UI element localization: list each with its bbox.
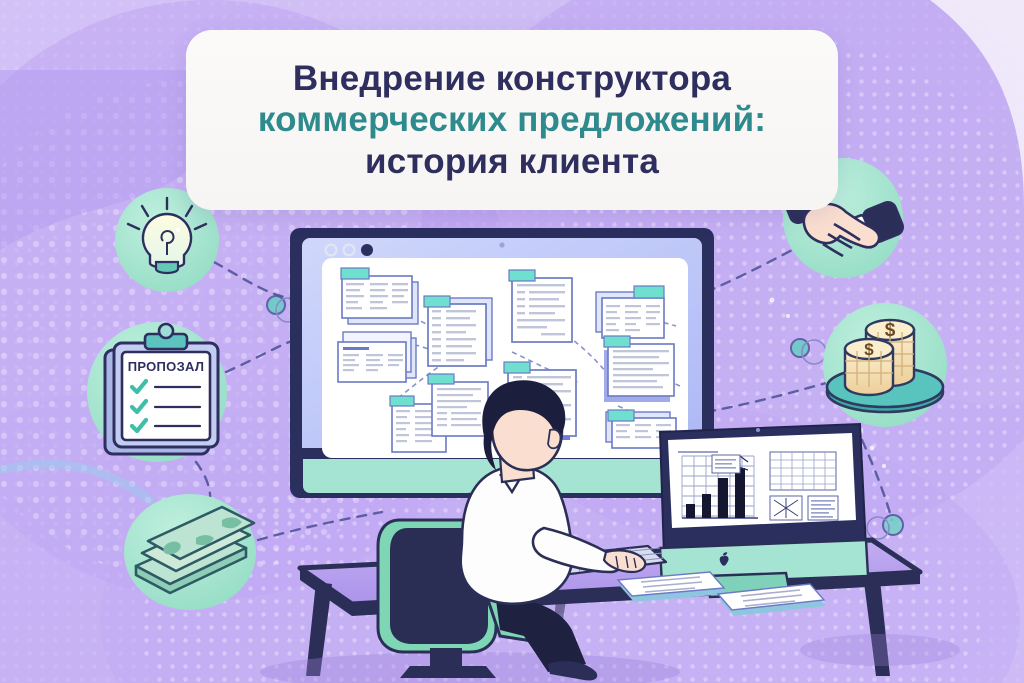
title-line-1: Внедрение конструктора — [293, 58, 731, 99]
chart-scatter-panel — [770, 496, 802, 520]
window-dot-3 — [361, 244, 373, 256]
chart-data-table — [770, 452, 836, 490]
document-card — [428, 374, 488, 436]
title-line-2: коммерческих предложений: — [258, 99, 766, 140]
chart-bar — [718, 478, 728, 518]
document-card — [338, 332, 416, 382]
title-line-3: история клиента — [365, 141, 659, 182]
illustration-canvas: ПРОПОЗАЛ — [0, 0, 1024, 683]
chart-bar — [735, 468, 745, 518]
document-card — [509, 270, 572, 342]
title-card: Внедрение конструктора коммерческих пред… — [186, 30, 838, 210]
side-monitor — [660, 424, 868, 597]
document-card — [604, 336, 674, 402]
document-card — [424, 296, 492, 366]
chart-text-panel — [808, 496, 838, 520]
chart-callout — [712, 455, 740, 473]
monitor-camera — [499, 242, 504, 247]
document-card — [341, 268, 418, 324]
document-card — [596, 286, 664, 338]
chart-bar — [686, 504, 695, 518]
chart-bar — [702, 494, 711, 518]
